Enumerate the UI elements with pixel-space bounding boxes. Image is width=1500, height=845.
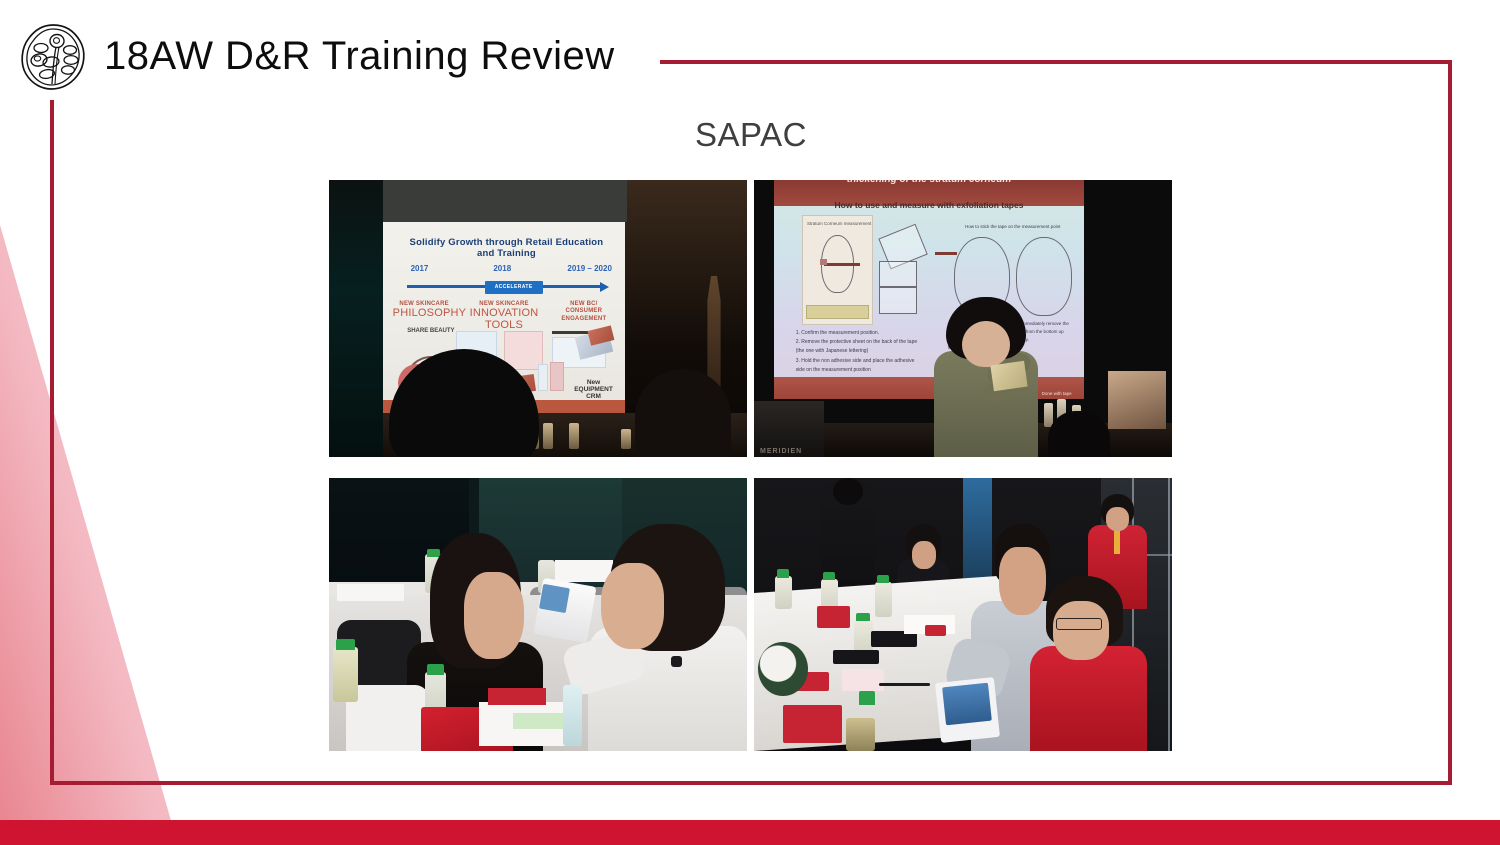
frame-line-bottom — [50, 781, 1452, 785]
step-2: 2. Remove the protective sheet on the ba… — [796, 338, 920, 357]
photo-grid: Solidify Growth through Retail Education… — [329, 180, 1172, 751]
new-equipment-note: New EQUIPMENT CRM — [567, 379, 620, 400]
presenter-figure — [934, 297, 1038, 457]
frame-line-right — [1448, 60, 1452, 785]
stratum-steps: 1. Confirm the measurement position. 2. … — [796, 329, 920, 375]
frame-line-left — [50, 100, 54, 785]
venue-sign: MERIDIEN — [760, 448, 802, 455]
participant-right — [588, 524, 747, 751]
col1-sub: NEW SKINCARE — [393, 301, 456, 307]
photo-top-right: thickening of the stratum corneum How to… — [754, 180, 1172, 457]
tape-steps-label: How to stick the tape on the measurement… — [951, 224, 1075, 229]
section-heading: SAPAC — [50, 116, 1452, 154]
photo-top-left: Solidify Growth through Retail Education… — [329, 180, 747, 457]
stratum-subhead: How to use and measure with exfoliation … — [774, 200, 1084, 210]
col1-main: PHILOSOPHY — [393, 307, 456, 319]
step-1: 1. Confirm the measurement position. — [796, 329, 920, 338]
timeline-year-2019-2020: 2019 – 2020 — [567, 264, 612, 273]
stratum-headline: thickening of the stratum corneum — [774, 180, 1084, 185]
photo-bottom-right — [754, 478, 1172, 751]
col2-main: INNOVATION TOOLS — [463, 307, 545, 331]
photo-bottom-left — [329, 478, 747, 751]
timeline-years: 2017 2018 2019 – 2020 — [398, 264, 616, 278]
slide-headline: Solidify Growth through Retail Education… — [402, 237, 610, 259]
slide-canvas: 18AW D&R Training Review SAPAC Solidify … — [0, 0, 1500, 845]
timeline-year-2017: 2017 — [411, 264, 429, 273]
timeline-year-2018: 2018 — [493, 264, 511, 273]
company-emblem-logo — [18, 22, 88, 92]
page-title: 18AW D&R Training Review — [104, 31, 615, 81]
panel-label: Stratum Corneum measurement — [807, 221, 871, 226]
slide-header: 18AW D&R Training Review — [0, 0, 1500, 110]
accelerate-badge: ACCELERATE — [485, 281, 543, 294]
step-3: 3. Hold the non adhesive side and place … — [796, 357, 920, 376]
slide-footer-note: Done with tape — [1042, 391, 1072, 396]
share-beauty-note: SHARE BEAUTY — [407, 328, 454, 334]
bottom-accent-bar — [0, 820, 1500, 845]
participant-woman-red — [1030, 576, 1147, 751]
col3-sub: NEW BC/ CONSUMER ENGAGEMENT — [552, 301, 615, 324]
